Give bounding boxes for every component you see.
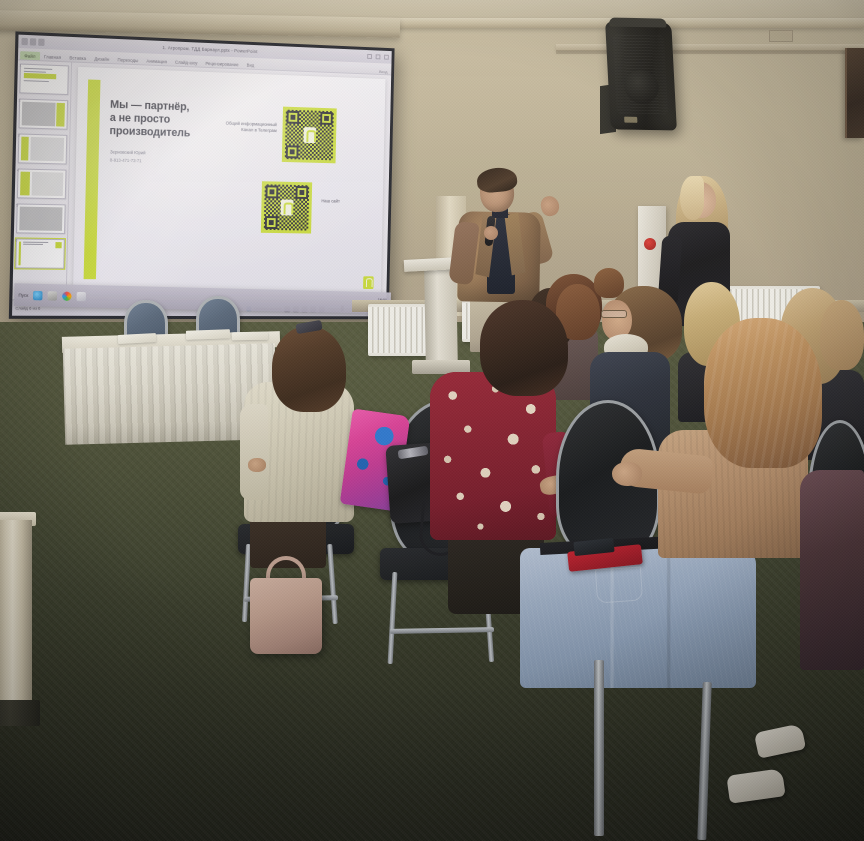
lectern-column [424,268,458,369]
photo-scene: 1. Агропром. ТДД Барнаул.pptx - PowerPoi… [0,0,864,841]
floral-pattern [430,372,556,540]
pa-speaker-badge [624,117,637,123]
slide-thumbnail-6[interactable]: 6 [15,238,65,268]
table-document [232,332,268,341]
slide-thumbnail-5[interactable]: 5 [16,203,66,234]
slide-thumbnail-4[interactable]: 4 [17,168,67,199]
ribbon-tab-animations[interactable]: Анимация [142,56,171,65]
qr-website-caption: Наш сайт [321,198,365,205]
slide-thumbnail-2[interactable]: 2 [18,98,68,129]
audience-hair [272,326,346,412]
explorer-icon[interactable] [48,291,58,300]
slide-thumbnail-3[interactable]: 3 [18,133,68,164]
slide-editing-stage[interactable]: Мы — партнёр, а не просто производитель … [67,63,392,301]
slide-number: 1 [19,63,21,67]
browser-icon[interactable] [33,290,43,299]
slide-thumbnail-panel[interactable]: 1 2 [12,60,72,299]
qr-finder-top-left [287,111,300,124]
slide-title: Мы — партнёр, а не просто производитель [109,99,218,141]
sign-in-label[interactable]: Вход [379,69,391,74]
slide-brand-logo-icon [363,276,374,289]
maximize-icon[interactable] [376,54,381,59]
qr-pattern [264,184,309,230]
ribbon-tab-slideshow[interactable]: Слайд-шоу [171,57,202,66]
audience-hand [612,462,642,486]
framed-picture [845,48,864,138]
ribbon-tab-view[interactable]: Вид [243,60,259,69]
qr-pattern [285,110,334,161]
host-hair-front [680,176,704,220]
close-icon[interactable] [384,55,389,60]
window-controls[interactable] [367,54,389,60]
pink-handbag [250,578,322,654]
slide-accent-bar [84,79,101,279]
ribbon-tab-transitions[interactable]: Переходы [113,55,142,64]
eyeglasses [601,310,627,318]
audience-hair [480,300,568,396]
ribbon-tab-design[interactable]: Дизайн [90,54,113,63]
wall-vent [769,30,793,42]
slide-number: 6 [15,238,17,242]
burgundy-floral-blouse [430,372,556,540]
audience-head-back [820,300,864,370]
qr-finder-top-right [295,186,308,199]
projection-surface: 1. Агропром. ТДД Барнаул.pptx - PowerPoi… [12,35,392,317]
table-document [186,329,230,340]
chair-leg-foreground [594,660,604,836]
slide-thumbnail-1[interactable]: 1 [19,63,69,95]
wall-chair-rail-shadow [556,50,864,54]
powerpoint-body: 1 2 [12,60,391,300]
qr-code-telegram[interactable] [282,107,337,164]
audience-hair [704,318,822,468]
slide-number: 2 [19,98,21,102]
pa-speaker [605,21,677,130]
qr-finder-bottom-left [265,216,278,229]
qr-brand-logo-icon [280,199,293,215]
banner-red-dot [644,238,656,250]
start-button[interactable]: Пуск [18,292,28,297]
slide-number: 4 [17,168,19,172]
presenter-mic-hand [484,226,498,240]
column [0,520,32,720]
qr-finder-top-right [320,112,333,125]
ribbon-tab-review[interactable]: Рецензирование [201,59,242,69]
pa-speaker-top [609,18,667,28]
column-base [0,700,40,726]
audience-person-right-edge [800,470,864,670]
slide-presenter-phone: 8-913-471-73-71 [110,157,142,163]
jeans-pocket [595,566,643,603]
hair-strands [704,318,822,468]
qr-finder-bottom-left [286,145,299,158]
qr-brand-logo-icon [303,127,316,143]
audience-hand [248,458,266,472]
qr-telegram-caption: Общий информационный Канал в Телеграм [206,120,277,135]
audience-arm [240,404,268,500]
slide-presenter-name: Зерновский Юрий [110,149,146,155]
powerpoint-window: 1. Агропром. ТДД Барнаул.pptx - PowerPoi… [12,35,392,317]
slide-number: 3 [18,133,20,137]
powerpoint-icon[interactable] [77,291,86,300]
ribbon-tab-file[interactable]: Файл [20,51,40,60]
ribbon-tab-home[interactable]: Главная [40,52,66,61]
minimize-icon[interactable] [367,54,372,59]
slide-number: 5 [16,203,18,207]
projector-screen: 1. Агропром. ТДД Барнаул.pptx - PowerPoi… [9,31,395,319]
ribbon-tab-insert[interactable]: Вставка [65,53,90,62]
chrome-icon[interactable] [63,291,73,300]
qr-code-website[interactable] [261,181,312,233]
current-slide[interactable]: Мы — партнёр, а не просто производитель … [73,67,386,296]
qr-finder-top-left [265,185,278,198]
